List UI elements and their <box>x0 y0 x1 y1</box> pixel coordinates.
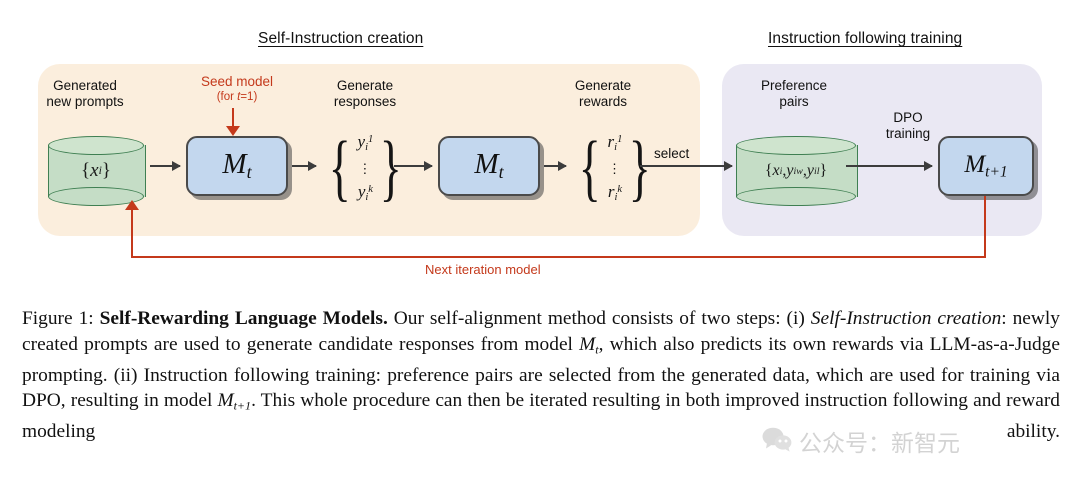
set-items: yi1 ⋮ yik <box>358 131 374 206</box>
figure-caption: Figure 1: Self-Rewarding Language Models… <box>22 306 1060 445</box>
set-item-last: rik <box>608 181 622 206</box>
arrow-prompts-to-model <box>150 165 180 167</box>
set-ellipsis: ⋮ <box>358 160 372 177</box>
label-line-2: new prompts <box>46 94 123 109</box>
edge-label-next-iteration-model: Next iteration model <box>425 262 541 277</box>
red-feedback-up-segment <box>131 210 133 258</box>
cylinder-prompts-formula: {xi} <box>48 136 144 206</box>
label-line-1: DPO <box>893 110 922 125</box>
label-seed-model-condition: (for t=1) <box>176 90 298 106</box>
section-title-self-instruction-creation: Self-Instruction creation <box>258 30 423 48</box>
model-box-mt-second: Mt <box>438 136 540 196</box>
label-line-2: rewards <box>579 94 627 109</box>
label-generate-rewards: Generate rewards <box>540 78 666 109</box>
label-line-1: Generated <box>53 78 117 93</box>
label-generated-new-prompts: Generated new prompts <box>22 78 148 109</box>
model-box-formula: Mt <box>222 148 251 183</box>
set-rewards: { ri1 ⋮ rik } <box>572 122 658 214</box>
brace-left: { <box>579 138 601 199</box>
arrow-model-to-rewards <box>544 165 566 167</box>
label-line-2: training <box>886 126 930 141</box>
caption-title: Self-Rewarding Language Models. <box>100 308 388 329</box>
caption-math-1: Mt <box>579 334 599 355</box>
label-line-1: Generate <box>575 78 631 93</box>
set-item-first: ri1 <box>608 131 623 156</box>
section-title-instruction-following-training: Instruction following training <box>768 30 962 48</box>
set-item-first: yi1 <box>358 131 374 156</box>
model-box-formula: Mt+1 <box>964 151 1007 181</box>
set-items: ri1 ⋮ rik <box>608 131 623 206</box>
caption-text-1: Our self-alignment method consists of tw… <box>388 308 811 329</box>
red-arrow-seed-model-head <box>226 126 240 136</box>
set-responses: { yi1 ⋮ yik } <box>322 122 409 214</box>
arrow-select-to-preference-store <box>640 165 732 167</box>
label-preference-pairs: Preference pairs <box>732 78 856 109</box>
label-seed-model: Seed model (for t=1) <box>176 74 298 105</box>
label-line-2: pairs <box>779 94 808 109</box>
arrow-dpo-to-model-next <box>846 165 932 167</box>
cylinder-preference-formula: {xi, yiw, yil} <box>736 136 856 206</box>
model-box-mt-plus-1: Mt+1 <box>938 136 1034 196</box>
red-feedback-bottom-segment <box>131 256 986 258</box>
brace-right: } <box>629 138 651 199</box>
caption-figure-number: Figure 1: <box>22 308 94 329</box>
edge-label-select: select <box>654 146 689 161</box>
label-line-1: Generate <box>337 78 393 93</box>
label-line-1: Seed model <box>201 74 273 89</box>
brace-right: } <box>380 138 402 199</box>
model-box-mt-first: Mt <box>186 136 288 196</box>
cylinder-preference-store: {xi, yiw, yil} <box>736 136 856 206</box>
red-feedback-down-segment <box>984 196 986 258</box>
set-ellipsis: ⋮ <box>608 160 622 177</box>
set-item-last: yik <box>358 181 373 206</box>
caption-math-2: Mt+1 <box>217 390 251 411</box>
label-generate-responses: Generate responses <box>300 78 430 109</box>
figure-container: Self-Instruction creation Instruction fo… <box>0 0 1080 488</box>
label-line-2: responses <box>334 94 396 109</box>
model-box-formula: Mt <box>474 148 503 183</box>
arrow-model-to-responses <box>292 165 316 167</box>
label-line-1: Preference <box>761 78 827 93</box>
caption-emph-1: Self-Instruction creation <box>811 308 1001 329</box>
brace-left: { <box>329 138 351 199</box>
cylinder-prompts-store: {xi} <box>48 136 144 206</box>
arrow-responses-to-model <box>394 165 432 167</box>
